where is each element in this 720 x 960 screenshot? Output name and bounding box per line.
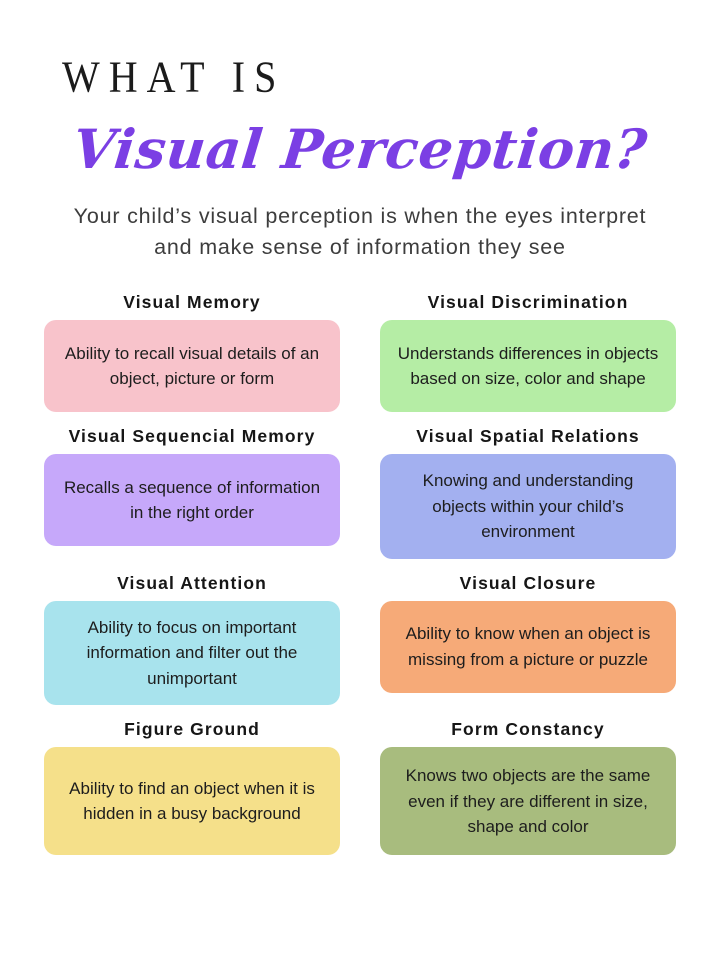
card-title: Form Constancy xyxy=(380,719,676,740)
card-body: Ability to focus on important informatio… xyxy=(44,601,340,706)
card-description: Ability to recall visual details of an o… xyxy=(58,341,326,392)
poster-header: WHAT IS Visual Perception? Your child’s … xyxy=(0,0,720,262)
header-eyebrow: WHAT IS xyxy=(0,53,720,100)
card-body: Ability to know when an object is missin… xyxy=(380,601,676,693)
skill-card-visual-attention: Visual Attention Ability to focus on imp… xyxy=(44,573,340,706)
skill-card-visual-memory: Visual Memory Ability to recall visual d… xyxy=(44,292,340,412)
card-description: Knowing and understanding objects within… xyxy=(394,468,662,545)
skill-card-visual-sequencial-memory: Visual Sequencial Memory Recalls a seque… xyxy=(44,426,340,559)
skill-card-figure-ground: Figure Ground Ability to find an object … xyxy=(44,719,340,855)
card-body: Knows two objects are the same even if t… xyxy=(380,747,676,855)
card-title: Visual Spatial Relations xyxy=(380,426,676,447)
card-body: Recalls a sequence of information in the… xyxy=(44,454,340,546)
card-title: Figure Ground xyxy=(44,719,340,740)
card-description: Ability to focus on important informatio… xyxy=(58,615,326,692)
skill-card-visual-spatial-relations: Visual Spatial Relations Knowing and und… xyxy=(380,426,676,559)
page-title: Visual Perception? xyxy=(0,120,720,179)
skills-grid: Visual Memory Ability to recall visual d… xyxy=(0,292,720,855)
card-description: Knows two objects are the same even if t… xyxy=(394,763,662,840)
skill-card-visual-closure: Visual Closure Ability to know when an o… xyxy=(380,573,676,706)
card-title: Visual Attention xyxy=(44,573,340,594)
skill-card-form-constancy: Form Constancy Knows two objects are the… xyxy=(380,719,676,855)
infographic-poster: WHAT IS Visual Perception? Your child’s … xyxy=(0,0,720,960)
card-title: Visual Memory xyxy=(44,292,340,313)
card-body: Ability to find an object when it is hid… xyxy=(44,747,340,855)
card-body: Understands differences in objects based… xyxy=(380,320,676,412)
card-body: Ability to recall visual details of an o… xyxy=(44,320,340,412)
card-description: Recalls a sequence of information in the… xyxy=(58,475,326,526)
skill-card-visual-discrimination: Visual Discrimination Understands differ… xyxy=(380,292,676,412)
card-title: Visual Sequencial Memory xyxy=(44,426,340,447)
card-description: Ability to find an object when it is hid… xyxy=(58,776,326,827)
card-body: Knowing and understanding objects within… xyxy=(380,454,676,559)
card-description: Understands differences in objects based… xyxy=(394,341,662,392)
card-description: Ability to know when an object is missin… xyxy=(394,621,662,672)
card-title: Visual Discrimination xyxy=(380,292,676,313)
card-title: Visual Closure xyxy=(380,573,676,594)
header-subtitle: Your child’s visual perception is when t… xyxy=(60,201,660,262)
